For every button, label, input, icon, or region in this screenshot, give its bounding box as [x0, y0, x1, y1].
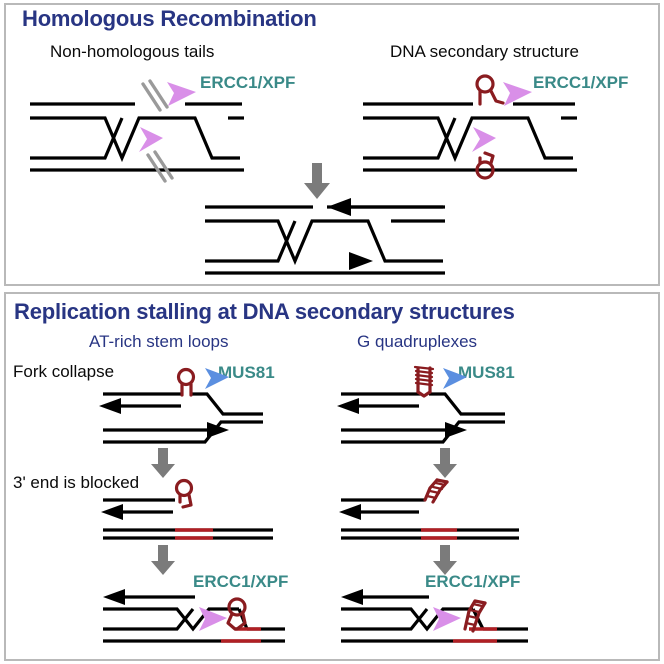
lagging-strand-arrow-icon: [341, 589, 429, 605]
dna-strand-fork-upper-branch: [429, 394, 505, 414]
violet-arrowhead-icon-bottom: [139, 127, 163, 152]
blue-arrowhead-icon-right: [443, 368, 467, 389]
violet-arrowhead-icon-bottom: [472, 127, 496, 152]
holliday-junction-stem-loop-left: [95, 585, 305, 660]
replication-fork-icon-left: [95, 372, 285, 452]
stem-loop-icon-fork-left: [179, 370, 194, 396]
gray-down-arrow-icon-left-2: [148, 545, 188, 577]
subtitle-at-rich-stem-loops: AT-rich stem loops: [89, 332, 229, 352]
gray-down-arrow-icon-right-2: [430, 545, 470, 577]
subtitle-non-homologous-tails: Non-homologous tails: [50, 42, 214, 62]
dna-strand-crossover-upper: [30, 118, 240, 158]
dna-strand-fork-upper-branch: [191, 394, 263, 414]
dna-strand-crossover-upper: [205, 221, 443, 261]
replication-fork-icon-right: [333, 372, 533, 452]
g-quadruplex-icon-blocked-right: [425, 480, 447, 502]
gray-down-arrow-icon-left-1: [148, 448, 188, 480]
subtitle-dna-secondary-structure: DNA secondary structure: [390, 42, 579, 62]
blue-arrowhead-icon-left: [205, 368, 229, 389]
figure-canvas: Homologous Recombination Non-homologous …: [0, 0, 664, 664]
stem-loop-icon-bottom: [477, 153, 493, 178]
holliday-junction-resolved-product: [195, 195, 475, 280]
lagging-strand-arrow-icon: [101, 504, 173, 520]
subtitle-g-quadruplexes: G quadruplexes: [357, 332, 477, 352]
stem-loop-icon-blocked-left: [177, 481, 192, 508]
gray-down-arrow-icon-right-1: [430, 448, 470, 480]
panel-title-homologous-recombination: Homologous Recombination: [22, 6, 317, 32]
leading-strand-arrow-icon: [349, 252, 373, 270]
non-homologous-tail-icon-bottom: [148, 152, 172, 181]
g-quadruplex-icon-fork-right: [415, 367, 433, 396]
non-homologous-tail-icon-top: [143, 81, 167, 110]
blocked-3prime-end-left: [95, 478, 295, 538]
lagging-strand-arrow-icon: [99, 398, 181, 414]
dna-strand-crossover-upper: [363, 118, 573, 158]
stem-loop-icon-top: [477, 76, 503, 104]
holliday-junction-g-quadruplex-right: [333, 585, 548, 660]
stem-loop-icon-bottom-left: [228, 599, 245, 629]
lagging-strand-arrow-icon: [339, 504, 419, 520]
holliday-junction-dna-secondary-structure: [333, 60, 653, 180]
dna-strand-fork-lower-branch: [341, 422, 505, 442]
lagging-strand-arrow-icon: [337, 398, 419, 414]
dna-strand-fork-lower-branch: [103, 422, 263, 442]
lagging-strand-arrow-icon: [327, 198, 443, 216]
blocked-3prime-end-right: [333, 478, 543, 538]
holliday-junction-non-homologous-tails: [0, 60, 320, 180]
panel-title-replication-stalling: Replication stalling at DNA secondary st…: [14, 299, 515, 325]
lagging-strand-arrow-icon: [103, 589, 195, 605]
